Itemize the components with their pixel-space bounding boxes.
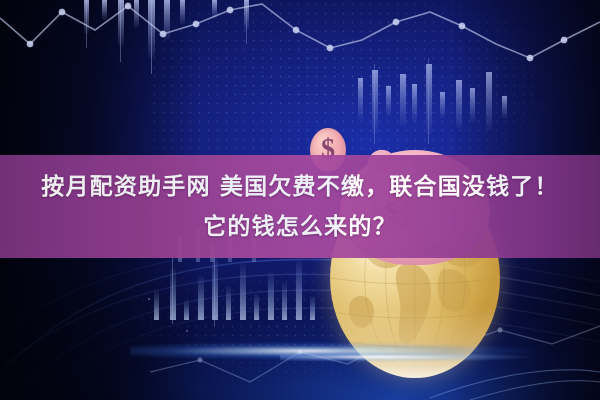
line-chart-upper bbox=[0, 3, 600, 62]
horizon-light-streak-inner bbox=[280, 348, 600, 366]
candlestick-group-top bbox=[84, 0, 249, 74]
headline-line-1: 按月配资助手网 美国欠费不缴，联合国没钱了！ bbox=[41, 167, 558, 207]
light-speck bbox=[148, 298, 150, 300]
banner-image: $ $ 按月配资助手网 美国欠费不缴，联合国没钱了！ 它的钱怎么来的？ bbox=[0, 0, 600, 400]
light-speck bbox=[186, 330, 188, 332]
headline-banner: 按月配资助手网 美国欠费不缴，联合国没钱了！ 它的钱怎么来的？ bbox=[0, 155, 600, 258]
headline-line-2: 它的钱怎么来的？ bbox=[203, 207, 397, 247]
candlestick-group-mid bbox=[358, 58, 507, 144]
